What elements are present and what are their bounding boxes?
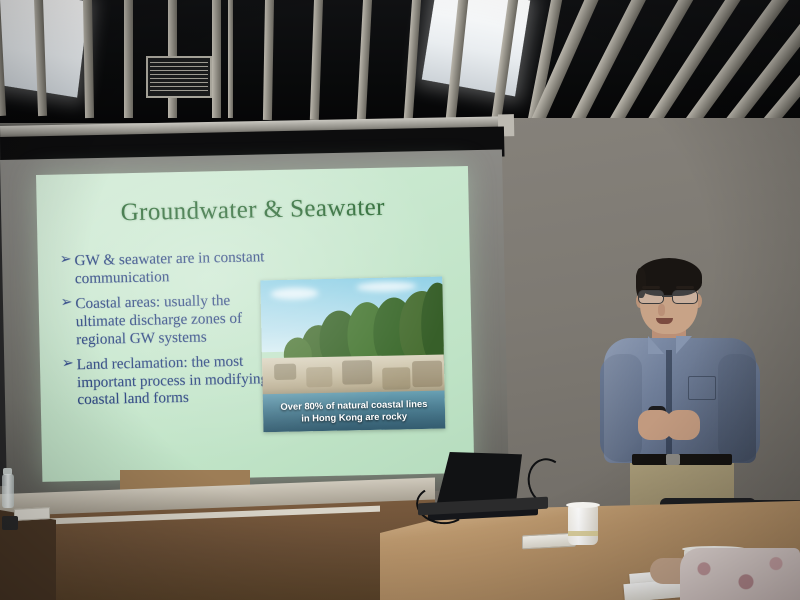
slide-bullet-text: Coastal areas: usually the ultimate disc… (75, 291, 276, 348)
bullet-arrow-icon: ➢ (61, 296, 74, 349)
collar-right (676, 336, 692, 354)
cup-rim (566, 502, 600, 508)
cup-band (568, 531, 598, 536)
rocky-coastline-photo: Over 80% of natural coastal lines in Hon… (260, 277, 445, 433)
photo-rock-detail (412, 361, 443, 388)
glasses-lens-left (638, 290, 664, 304)
slide-title: Groundwater & Seawater (37, 192, 469, 229)
ceiling (0, 0, 800, 132)
podium-item-dark[interactable] (2, 516, 18, 530)
glasses-icon (638, 290, 700, 303)
slide-bullet-item: ➢ GW & seawater are in constant communic… (60, 248, 276, 288)
presenter-belt (632, 454, 732, 465)
presenter-shirt-pocket (688, 376, 716, 400)
photo-rock-detail (274, 364, 296, 380)
collar-left (648, 336, 664, 354)
photo-rock-detail (342, 360, 372, 385)
projected-slide: Groundwater & Seawater ➢ GW & seawater a… (36, 166, 474, 482)
presenter-eyebrow (642, 286, 660, 289)
glasses-lens-right (672, 290, 698, 304)
ceiling-baffle (212, 0, 221, 118)
slide-bullet-text: GW & seawater are in constant communicat… (74, 248, 275, 287)
audience-clothing (680, 548, 800, 600)
podium-item-box[interactable] (14, 507, 50, 521)
hvac-vent-icon (146, 56, 212, 98)
presenter-eyebrow (676, 286, 694, 289)
slide-bullet-item: ➢ Coastal areas: usually the ultimate di… (61, 291, 277, 348)
wooden-podium (0, 486, 435, 600)
paper-cup-left[interactable] (568, 505, 598, 545)
glasses-bridge (662, 295, 672, 297)
presenter-hand-right (666, 410, 700, 440)
water-bottle[interactable] (2, 474, 14, 508)
slide-bullet-list: ➢ GW & seawater are in constant communic… (60, 248, 278, 417)
bullet-arrow-icon: ➢ (62, 356, 75, 409)
ceiling-baffle (228, 0, 233, 118)
slide-bullet-item: ➢ Land reclamation: the most important p… (62, 352, 278, 409)
photo-rock-detail (306, 367, 332, 388)
presenter (596, 258, 768, 520)
slide-bullet-text: Land reclamation: the most important pro… (77, 352, 278, 409)
bullet-arrow-icon: ➢ (60, 252, 72, 287)
ceiling-baffle (124, 0, 133, 118)
presenter-nose (658, 304, 665, 316)
belt-buckle (666, 454, 680, 465)
photo-caption: Over 80% of natural coastal lines in Hon… (263, 397, 445, 426)
lecture-room-scene: Groundwater & Seawater ➢ GW & seawater a… (0, 0, 800, 600)
